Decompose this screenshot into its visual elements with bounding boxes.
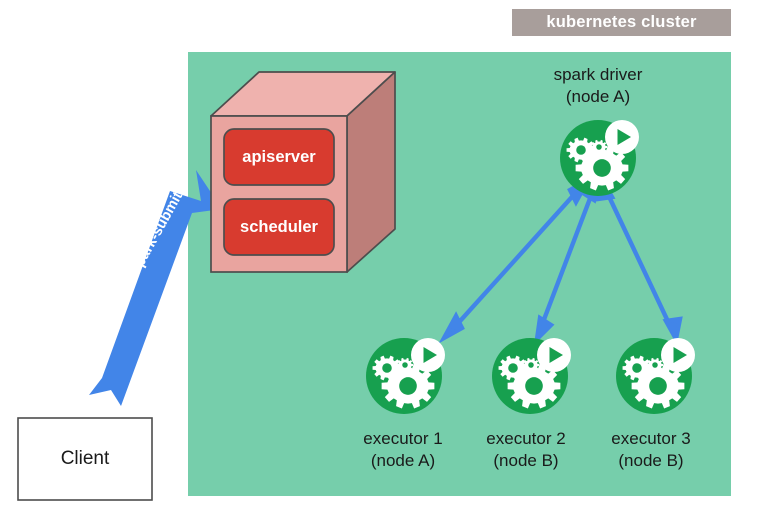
apiserver-label: apiserver — [214, 148, 344, 167]
kubernetes-cluster-tag: kubernetes cluster — [512, 9, 731, 36]
control-plane-cube — [211, 72, 395, 272]
diagram-canvas: kubernetes cluster apiserver scheduler s… — [0, 0, 761, 516]
client-label: Client — [18, 418, 152, 500]
scheduler-label: scheduler — [214, 218, 344, 237]
